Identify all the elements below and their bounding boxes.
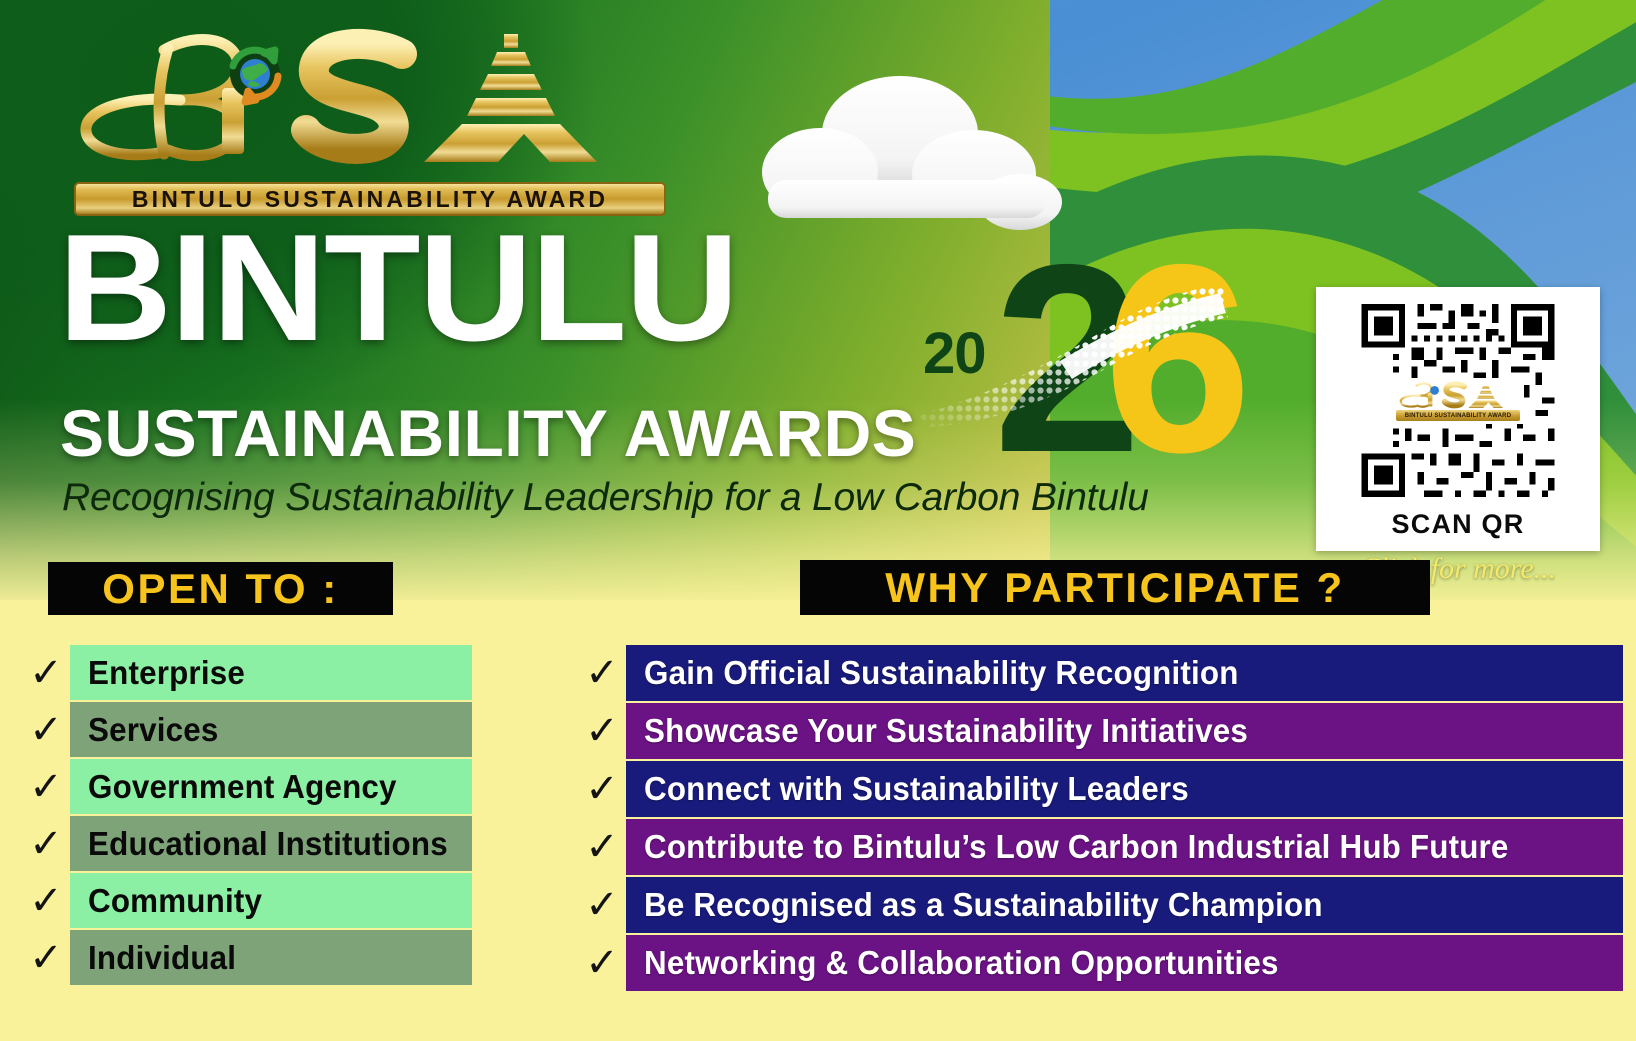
list-item: ✓Individual [22, 930, 472, 985]
why-participate-row-4: Contribute to Bintulu’s Low Carbon Indus… [626, 819, 1623, 875]
list-item-label: Government Agency [88, 768, 397, 806]
open-to-row-2: Services [70, 702, 472, 757]
checkmark-icon: ✓ [578, 645, 626, 701]
qr-code-image[interactable]: BINTULU SUSTAINABILITY AWARD [1327, 298, 1589, 503]
open-to-header: OPEN TO : [48, 562, 393, 615]
checkmark-icon: ✓ [22, 702, 70, 757]
list-item-label: Gain Official Sustainability Recognition [644, 654, 1239, 692]
why-participate-row-3: Connect with Sustainability Leaders [626, 761, 1623, 817]
list-item: ✓Networking & Collaboration Opportunitie… [578, 935, 1623, 991]
why-participate-list: ✓Gain Official Sustainability Recognitio… [578, 645, 1623, 993]
list-item: ✓Educational Institutions [22, 816, 472, 871]
list-item: ✓Gain Official Sustainability Recognitio… [578, 645, 1623, 701]
checkmark-icon: ✓ [22, 873, 70, 928]
why-participate-header: WHY PARTICIPATE ? [800, 560, 1430, 615]
checkmark-icon: ✓ [22, 645, 70, 700]
open-to-header-text: OPEN TO : [102, 565, 338, 613]
poster-canvas: BINTULU SUSTAINABILITY AWARD BINTULU SUS… [0, 0, 1636, 1041]
checkmark-icon: ✓ [578, 703, 626, 759]
checkmark-icon: ✓ [22, 759, 70, 814]
list-item-label: Individual [88, 939, 236, 977]
list-item-label: Community [88, 882, 262, 920]
checkmark-icon: ✓ [578, 819, 626, 875]
list-item: ✓Government Agency [22, 759, 472, 814]
why-participate-row-6: Networking & Collaboration Opportunities [626, 935, 1623, 991]
open-to-row-1: Enterprise [70, 645, 472, 700]
bisa-logo[interactable]: BINTULU SUSTAINABILITY AWARD [72, 22, 672, 217]
list-item-label: Connect with Sustainability Leaders [644, 770, 1189, 808]
open-to-row-6: Individual [70, 930, 472, 985]
list-item-label: Educational Institutions [88, 825, 448, 863]
list-item-label: Networking & Collaboration Opportunities [644, 944, 1279, 982]
list-item-label: Services [88, 711, 219, 749]
year-2026-graphic: 2 6 20 [915, 232, 1215, 497]
checkmark-icon: ✓ [578, 935, 626, 991]
list-item-label: Be Recognised as a Sustainability Champi… [644, 886, 1323, 924]
open-to-list: ✓Enterprise✓Services✓Government Agency✓E… [22, 645, 472, 987]
list-item-label: Enterprise [88, 654, 245, 692]
why-participate-header-text: WHY PARTICIPATE ? [885, 564, 1344, 612]
list-item: ✓Services [22, 702, 472, 757]
checkmark-icon: ✓ [22, 930, 70, 985]
list-item-label: Showcase Your Sustainability Initiatives [644, 712, 1248, 750]
checkmark-icon: ✓ [578, 761, 626, 817]
page-subtitle: SUSTAINABILITY AWARDS [60, 400, 916, 466]
qr-embedded-logo: BINTULU SUSTAINABILITY AWARD [1392, 378, 1524, 424]
open-to-row-5: Community [70, 873, 472, 928]
list-item-label: Contribute to Bintulu’s Low Carbon Indus… [644, 828, 1509, 866]
scan-qr-label: SCAN QR [1327, 509, 1589, 540]
logo-lettermark [72, 22, 672, 172]
list-item: ✓Connect with Sustainability Leaders [578, 761, 1623, 817]
page-title: BINTULU [58, 222, 737, 356]
open-to-row-3: Government Agency [70, 759, 472, 814]
list-item: ✓Community [22, 873, 472, 928]
qr-code-card[interactable]: BINTULU SUSTAINABILITY AWARD SCAN QR [1316, 287, 1600, 551]
checkmark-icon: ✓ [22, 816, 70, 871]
year-prefix-20: 20 [923, 320, 986, 387]
list-item: ✓Be Recognised as a Sustainability Champ… [578, 877, 1623, 933]
list-item: ✓Showcase Your Sustainability Initiative… [578, 703, 1623, 759]
why-participate-row-1: Gain Official Sustainability Recognition [626, 645, 1623, 701]
why-participate-row-5: Be Recognised as a Sustainability Champi… [626, 877, 1623, 933]
list-item: ✓Contribute to Bintulu’s Low Carbon Indu… [578, 819, 1623, 875]
list-item: ✓Enterprise [22, 645, 472, 700]
open-to-row-4: Educational Institutions [70, 816, 472, 871]
year-digit-6: 6 [1103, 224, 1252, 492]
why-participate-row-2: Showcase Your Sustainability Initiatives [626, 703, 1623, 759]
qr-embedded-logo-banner: BINTULU SUSTAINABILITY AWARD [1396, 410, 1520, 421]
checkmark-icon: ✓ [578, 877, 626, 933]
